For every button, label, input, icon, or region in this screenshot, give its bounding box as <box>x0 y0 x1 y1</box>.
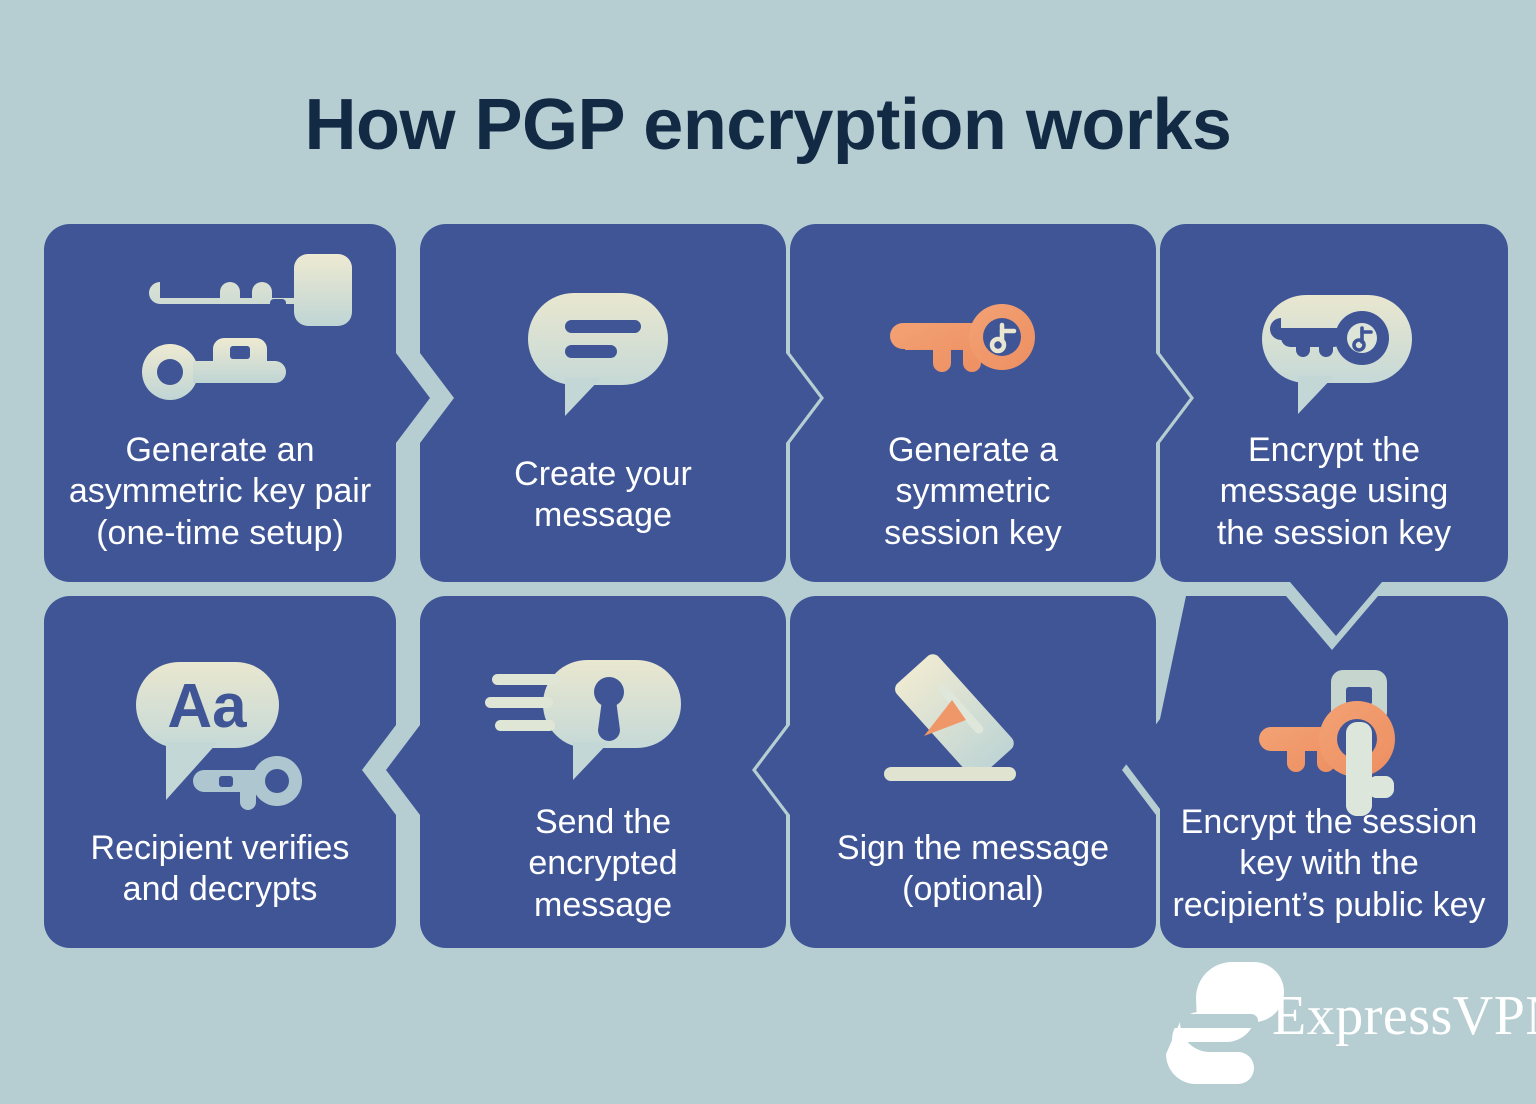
infographic-root: How PGP encryption works <box>0 0 1536 1104</box>
step-6-text: Sign the message (optional) <box>790 828 1156 911</box>
expressvpn-logo-mark <box>1166 962 1284 1084</box>
step-2-text: Create your message <box>420 454 786 537</box>
step-3-text: Generate a symmetric session key <box>790 430 1156 554</box>
step-1-text: Generate an asymmetric key pair (one-tim… <box>44 430 396 554</box>
step-4-text: Encrypt the message using the session ke… <box>1160 430 1508 554</box>
step-8-text: Recipient verifies and decrypts <box>44 828 396 911</box>
step-label-2: Create your message <box>420 224 786 582</box>
step-7-text: Send the encrypted message <box>420 802 786 926</box>
step-label-3: Generate a symmetric session key <box>790 224 1156 582</box>
step-label-5: Encrypt the session key with the recipie… <box>1150 596 1508 948</box>
brand-wordmark: ExpressVPN <box>1272 988 1536 1044</box>
step-label-8: Recipient verifies and decrypts <box>44 596 396 948</box>
step-label-1: Generate an asymmetric key pair (one-tim… <box>44 224 396 582</box>
step-label-7: Send the encrypted message <box>420 596 786 948</box>
step-5-text: Encrypt the session key with the recipie… <box>1150 802 1508 926</box>
step-label-6: Sign the message (optional) <box>790 596 1156 948</box>
brand-wordmark-wrap: ExpressVPN <box>1272 988 1536 1044</box>
step-label-4: Encrypt the message using the session ke… <box>1160 224 1508 582</box>
